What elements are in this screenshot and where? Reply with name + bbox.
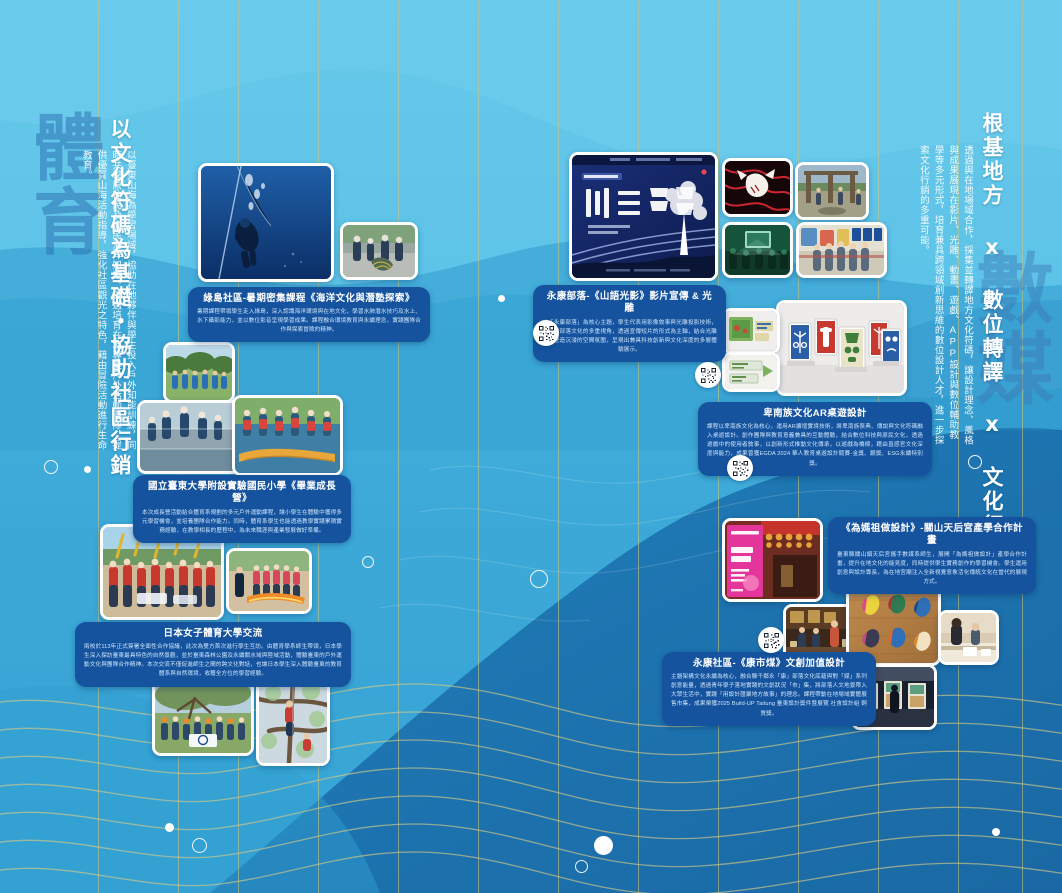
guide-line (638, 0, 639, 893)
qr-icon (732, 460, 749, 477)
card-title: 《為媽祖做設計》-關山天后宮產學合作計畫 (837, 523, 1027, 548)
photo-projection-room (722, 222, 793, 278)
card-desc: 兩校於113年正式簽署全面性合作協議，此次為雙方首次進行學生互訪。由體育學系師生… (84, 643, 342, 679)
photo-workshop (938, 610, 999, 665)
card-title: 卑南族文化AR桌遊設計 (707, 408, 923, 420)
bubble-ring (192, 838, 207, 853)
card-desc: 暑期課程帶領學生走入綠島，深入認識海洋環境與在地文化，學習水肺潛水技巧及水上、水… (197, 308, 421, 335)
card-japan-womens-pe[interactable]: 日本女子體育大學交流 兩校於113年正式簽署全面性合作協議，此次為雙方首次進行學… (75, 622, 351, 687)
card-title: 綠島社區-暑期密集課程《海洋文化與潛塾探索》 (197, 293, 421, 305)
guide-line (478, 0, 479, 893)
right-column-headline: 根基地方 x 數位轉譯 x 文化行銷 (977, 112, 1007, 562)
left-column-body: 以臺東山海為學習場域，協助在地夥伴與學生投入戶外知能訓練，同時共學原住民及漁民海… (78, 150, 137, 450)
bubble-ring (362, 556, 374, 568)
card-title: 日本女子體育大學交流 (84, 628, 342, 640)
photo-tree-climb (256, 676, 330, 766)
qr-mazu[interactable] (758, 627, 784, 653)
card-title: 國立臺東大學附設實驗國民小學《畢業成長營》 (142, 481, 342, 506)
card-mazu-design[interactable]: 《為媽祖做設計》-關山天后宮產學合作計畫 臺東縣關山鎮天后宮攜手數媒系師生，展開… (828, 517, 1036, 594)
card-desc: 以「永康部落」為核心主題，學生代表用影像敘事與光雕投影技術，將蘊藏部落文化的多重… (542, 319, 717, 355)
qr-icon (700, 367, 717, 384)
photo-kayak (232, 395, 343, 476)
qr-icon (538, 325, 555, 342)
guide-line (958, 0, 959, 893)
poster-canvas: 體育 數媒 以文化符碼為基礎・協助社區行銷 以臺東山海為學習場域，協助在地夥伴與… (0, 0, 1062, 893)
bubble-ring (968, 455, 982, 469)
right-column-body: 透過與在地場域合作，採集並轉譯地方文化符碼，讓設計理念、風格與成果展現在影片、光… (915, 145, 974, 445)
card-title: 永康部落-《山語光影》影片宣傳 & 光雕 (542, 291, 717, 316)
photo-tribe-site (795, 162, 869, 220)
bubble-ring (44, 460, 58, 474)
photo-wall-climb (137, 400, 243, 474)
qr-icon (763, 632, 780, 649)
bubble-dot (84, 466, 91, 473)
photo-beach-cleanup (340, 222, 418, 280)
photo-diving (198, 163, 334, 282)
qr-green-island[interactable] (533, 320, 559, 346)
bubble-dot (594, 836, 613, 855)
photo-boardgame-set (722, 352, 780, 392)
photo-students-field (163, 342, 235, 403)
guide-line (398, 0, 399, 893)
guide-line (1022, 0, 1023, 893)
photo-ar-cards (776, 300, 907, 396)
card-yongkang-film[interactable]: 永康部落-《山語光影》影片宣傳 & 光雕 以「永康部落」為核心主題，學生代表用影… (533, 285, 726, 362)
card-desc: 主題架構文化永續為核心，融合縣千鄰永「康」部落文化底蘊與對「媒」系列創意能量，透… (671, 673, 867, 718)
photo-boardgame-box (722, 308, 780, 354)
bubble-ring (575, 860, 588, 873)
photo-sup (226, 548, 312, 614)
photo-tree-group (152, 676, 254, 756)
bubble-dot (165, 823, 174, 832)
photo-yongkang-youth (796, 222, 887, 278)
card-yongkang-cultural[interactable]: 永康社區-《康市煤》文創加值設計 主題架構文化永續為核心，融合縣千鄰永「康」部落… (662, 652, 876, 726)
card-nttu-primary[interactable]: 國立臺東大學附設實驗國民小學《畢業成長營》 本次成長營活動結合體育系規劃的多元戶… (133, 475, 351, 543)
bubble-ring (530, 570, 548, 588)
photo-mazu-banner (722, 518, 823, 602)
bubble-dot (498, 295, 505, 302)
qr-puyuma-ar[interactable] (727, 455, 753, 481)
guide-line (558, 0, 559, 893)
photo-shanyu-poster (569, 152, 718, 281)
bubble-dot (992, 828, 1000, 836)
card-title: 永康社區-《康市煤》文創加值設計 (671, 658, 867, 670)
photo-lightcarve-red (722, 158, 793, 217)
card-green-island[interactable]: 綠島社區-暑期密集課程《海洋文化與潛塾探索》 暑期課程帶領學生走入綠島，深入認識… (188, 287, 430, 342)
card-desc: 本次成長營活動結合體育系規劃的多元戶外運動課程，讓小學生在體驗中獲得多元學習機會… (142, 509, 342, 536)
qr-yongkang-film[interactable] (695, 362, 721, 388)
card-desc: 臺東縣關山鎮天后宮攜手數媒系師生，展開「為媽祖做設計」產學合作計畫，提升在地文化… (837, 551, 1027, 587)
